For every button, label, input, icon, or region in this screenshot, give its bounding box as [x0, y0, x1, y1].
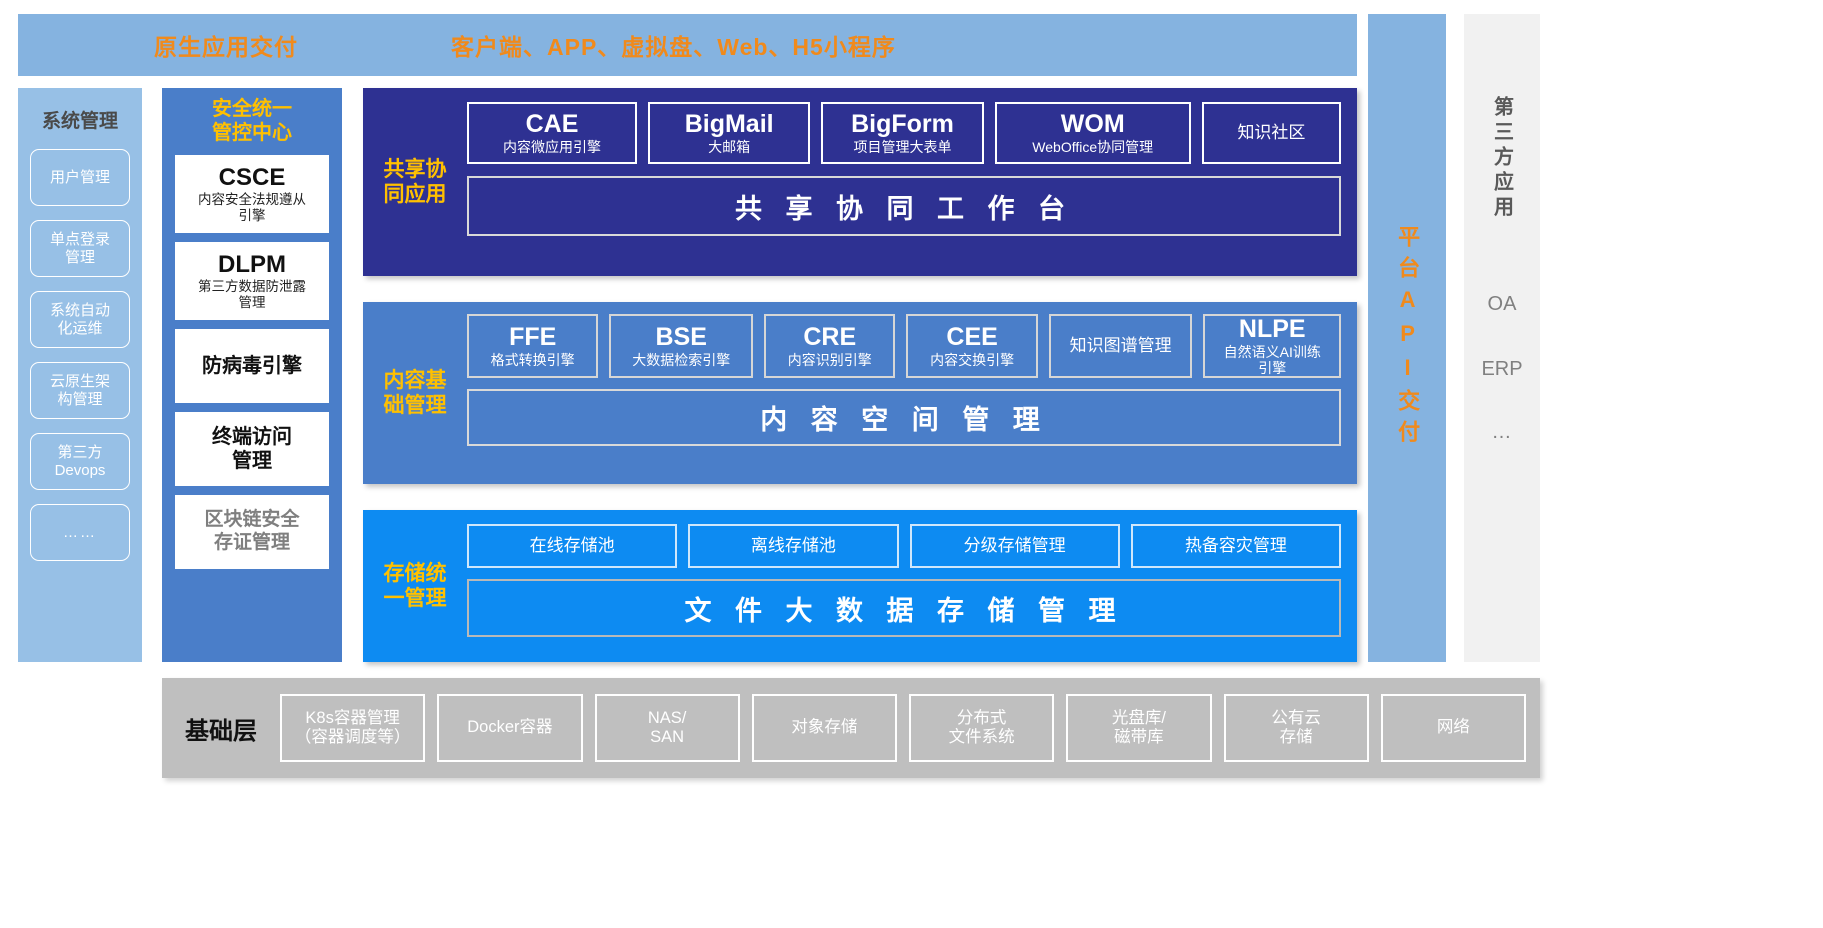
content-management-label: 内容基础管理	[363, 302, 467, 484]
system-management-column: 系统管理 用户管理 单点登录管理 系统自动化运维 云原生架构管理 第三方Devo…	[18, 88, 142, 662]
storage-management-panel: 存储统一管理 在线存储池 离线存储池 分级存储管理 热备容灾管理 文 件 大 数…	[363, 510, 1357, 662]
sidebar-item-user-management[interactable]: 用户管理	[30, 149, 130, 206]
sidebar-item-third-party-devops[interactable]: 第三方Devops	[30, 433, 130, 490]
infra-chip-public-cloud-storage[interactable]: 公有云存储	[1224, 694, 1369, 762]
infra-chip-object-storage[interactable]: 对象存储	[752, 694, 897, 762]
security-item-dlpm[interactable]: DLPM 第三方数据防泄露管理	[175, 242, 329, 320]
chip-cae[interactable]: CAE 内容微应用引擎	[467, 102, 637, 164]
security-item-csce[interactable]: CSCE 内容安全法规遵从引擎	[175, 155, 329, 233]
chip-hot-standby-dr-management[interactable]: 热备容灾管理	[1131, 524, 1341, 568]
security-center-title: 安全统一管控中心	[175, 98, 329, 145]
chip-bigmail[interactable]: BigMail 大邮箱	[648, 102, 810, 164]
infra-chip-k8s[interactable]: K8s容器管理（容器调度等）	[280, 694, 425, 762]
wom-abbr: WOM	[1061, 111, 1125, 139]
sidebar-item-more[interactable]: ……	[30, 504, 130, 561]
shared-collaboration-workbench-bar[interactable]: 共 享 协 同 工 作 台	[467, 176, 1341, 236]
file-bigdata-storage-bar[interactable]: 文 件 大 数 据 存 储 管 理	[467, 579, 1341, 637]
cee-abbr: CEE	[946, 324, 997, 352]
chip-cre[interactable]: CRE 内容识别引擎	[764, 314, 895, 378]
native-app-delivery-banner: 原生应用交付 客户端、APP、虚拟盘、Web、H5小程序	[18, 14, 1357, 76]
terminal-access-label: 终端访问管理	[212, 425, 292, 473]
wom-description: WebOffice协同管理	[1032, 139, 1153, 155]
bse-description: 大数据检索引擎	[632, 352, 730, 368]
chip-knowledge-community[interactable]: 知识社区	[1202, 102, 1341, 164]
sidebar-item-sso-management[interactable]: 单点登录管理	[30, 220, 130, 277]
dlpm-abbr: DLPM	[218, 252, 286, 278]
offline-storage-pool-label: 离线存储池	[751, 536, 836, 556]
cae-abbr: CAE	[526, 111, 579, 139]
blockchain-evidence-label: 区块链安全存证管理	[204, 509, 299, 555]
nlpe-abbr: NLPE	[1239, 316, 1306, 344]
infrastructure-items: K8s容器管理（容器调度等） Docker容器 NAS/SAN 对象存储 分布式…	[280, 694, 1540, 762]
bse-abbr: BSE	[656, 324, 707, 352]
security-item-terminal-access[interactable]: 终端访问管理	[175, 412, 329, 486]
ffe-description: 格式转换引擎	[491, 352, 575, 368]
chip-bse[interactable]: BSE 大数据检索引擎	[609, 314, 753, 378]
system-management-title: 系统管理	[18, 106, 142, 133]
third-party-item-oa[interactable]: OA	[1488, 293, 1517, 316]
bigform-abbr: BigForm	[851, 111, 954, 139]
infra-chip-distributed-fs[interactable]: 分布式文件系统	[909, 694, 1054, 762]
platform-api-column: 平台API交付	[1368, 14, 1446, 662]
banner-right-label: 客户端、APP、虚拟盘、Web、H5小程序	[451, 28, 896, 62]
third-party-title: 第三方应用	[1488, 96, 1517, 221]
chip-cee[interactable]: CEE 内容交换引擎	[906, 314, 1037, 378]
cre-description: 内容识别引擎	[788, 352, 872, 368]
knowledge-graph-label: 知识图谱管理	[1070, 336, 1172, 356]
storage-management-label: 存储统一管理	[363, 510, 467, 662]
shared-collaboration-chip-row: CAE 内容微应用引擎 BigMail 大邮箱 BigForm 项目管理大表单 …	[467, 102, 1341, 164]
nlpe-description: 自然语义AI训练引擎	[1224, 344, 1321, 376]
third-party-item-more[interactable]: …	[1492, 421, 1513, 444]
chip-online-storage-pool[interactable]: 在线存储池	[467, 524, 677, 568]
bigform-description: 项目管理大表单	[853, 139, 951, 155]
bigmail-description: 大邮箱	[708, 139, 750, 155]
infra-chip-optical-tape-library[interactable]: 光盘库/磁带库	[1066, 694, 1211, 762]
infra-chip-nas-san[interactable]: NAS/SAN	[595, 694, 740, 762]
online-storage-pool-label: 在线存储池	[530, 536, 615, 556]
chip-nlpe[interactable]: NLPE 自然语义AI训练引擎	[1203, 314, 1341, 378]
antivirus-engine-label: 防病毒引擎	[202, 354, 302, 378]
chip-knowledge-graph[interactable]: 知识图谱管理	[1049, 314, 1193, 378]
chip-wom[interactable]: WOM WebOffice协同管理	[995, 102, 1191, 164]
content-management-panel: 内容基础管理 FFE 格式转换引擎 BSE 大数据检索引擎 CRE 内容识别引擎…	[363, 302, 1357, 484]
banner-left-label: 原生应用交付	[154, 28, 298, 62]
sidebar-item-automation-ops[interactable]: 系统自动化运维	[30, 291, 130, 348]
infrastructure-row: 基础层 K8s容器管理（容器调度等） Docker容器 NAS/SAN 对象存储…	[162, 678, 1540, 778]
content-management-chip-row: FFE 格式转换引擎 BSE 大数据检索引擎 CRE 内容识别引擎 CEE 内容…	[467, 314, 1341, 378]
third-party-item-erp[interactable]: ERP	[1481, 358, 1522, 381]
content-space-management-bar[interactable]: 内 容 空 间 管 理	[467, 389, 1341, 446]
security-item-blockchain-evidence[interactable]: 区块链安全存证管理	[175, 495, 329, 569]
security-item-antivirus-engine[interactable]: 防病毒引擎	[175, 329, 329, 403]
platform-api-label: 平台API交付	[1395, 225, 1419, 451]
third-party-column: 第三方应用 OA ERP …	[1464, 14, 1540, 662]
ffe-abbr: FFE	[509, 324, 556, 352]
chip-bigform[interactable]: BigForm 项目管理大表单	[821, 102, 983, 164]
chip-ffe[interactable]: FFE 格式转换引擎	[467, 314, 598, 378]
cre-abbr: CRE	[803, 324, 856, 352]
security-center-column: 安全统一管控中心 CSCE 内容安全法规遵从引擎 DLPM 第三方数据防泄露管理…	[162, 88, 342, 662]
bigmail-abbr: BigMail	[685, 111, 774, 139]
sidebar-item-cloud-native-arch[interactable]: 云原生架构管理	[30, 362, 130, 419]
tiered-storage-label: 分级存储管理	[964, 536, 1066, 556]
infra-chip-docker[interactable]: Docker容器	[437, 694, 582, 762]
dlpm-description: 第三方数据防泄露管理	[198, 279, 306, 310]
shared-collaboration-label: 共享协同应用	[363, 88, 467, 276]
hot-standby-dr-label: 热备容灾管理	[1185, 536, 1287, 556]
infrastructure-label: 基础层	[162, 711, 280, 746]
architecture-diagram: 原生应用交付 客户端、APP、虚拟盘、Web、H5小程序 系统管理 用户管理 单…	[0, 0, 1823, 928]
chip-offline-storage-pool[interactable]: 离线存储池	[688, 524, 898, 568]
shared-collaboration-panel: 共享协同应用 CAE 内容微应用引擎 BigMail 大邮箱 BigForm 项…	[363, 88, 1357, 276]
cee-description: 内容交换引擎	[930, 352, 1014, 368]
cae-description: 内容微应用引擎	[503, 139, 601, 155]
csce-description: 内容安全法规遵从引擎	[198, 192, 306, 223]
chip-tiered-storage-management[interactable]: 分级存储管理	[910, 524, 1120, 568]
infra-chip-network[interactable]: 网络	[1381, 694, 1526, 762]
storage-chip-row: 在线存储池 离线存储池 分级存储管理 热备容灾管理	[467, 524, 1341, 568]
csce-abbr: CSCE	[219, 165, 286, 191]
knowledge-community-label: 知识社区	[1237, 123, 1305, 143]
